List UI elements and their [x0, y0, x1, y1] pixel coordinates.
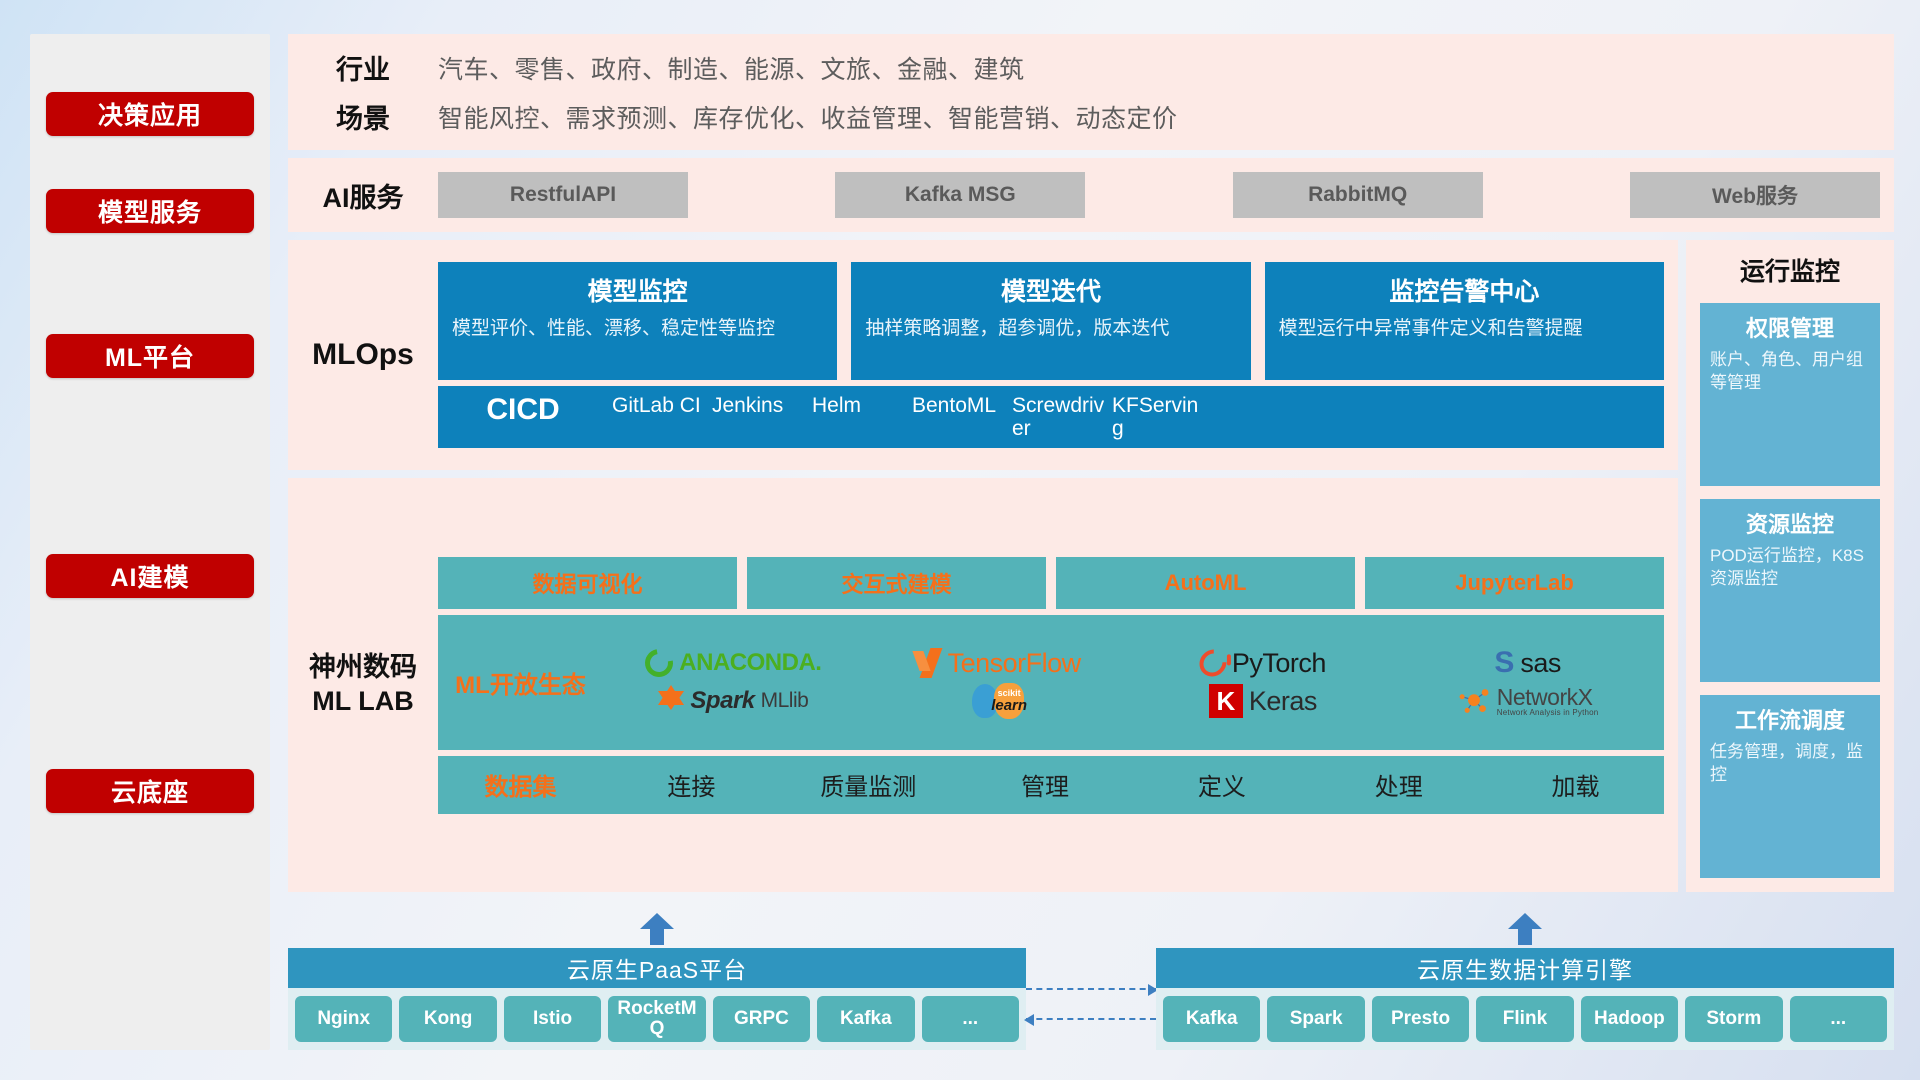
engine-chip-hadoop[interactable]: Hadoop — [1581, 996, 1678, 1042]
dataset-item-load[interactable]: 加载 — [1487, 767, 1664, 802]
rail-item-label: 模型服务 — [98, 193, 202, 229]
mlops-card-desc: 模型评价、性能、漂移、稳定性等监控 — [452, 316, 823, 342]
mlops-card-model-monitoring[interactable]: 模型监控 模型评价、性能、漂移、稳定性等监控 — [438, 262, 837, 380]
tab-interactive-modeling[interactable]: 交互式建模 — [747, 557, 1046, 609]
arrow-up-icon — [640, 913, 674, 945]
data-engine-title: 云原生数据计算引擎 — [1156, 948, 1894, 988]
interconnect-arrows — [1026, 988, 1156, 1050]
mllib-label: MLlib — [761, 689, 809, 713]
engine-chip-presto[interactable]: Presto — [1372, 996, 1469, 1042]
ai-service-items: RestfulAPI Kafka MSG RabbitMQ Web服务 — [438, 172, 1894, 218]
paas-chip-rocketmq[interactable]: RocketMQ — [608, 996, 705, 1042]
paas-chip-istio[interactable]: Istio — [504, 996, 601, 1042]
spark-mllib-logo: Spark MLlib — [658, 687, 808, 715]
scenario-row: 场景 智能风控、需求预测、库存优化、收益管理、智能营销、动态定价 — [288, 97, 1894, 136]
mlops-card-title: 监控告警中心 — [1279, 272, 1650, 308]
tab-data-visualization[interactable]: 数据可视化 — [438, 557, 737, 609]
tensorflow-logo: TensorFlow — [916, 648, 1081, 679]
engine-chip-flink[interactable]: Flink — [1476, 996, 1573, 1042]
ml-ecosystem-logos: ANACONDA. TensorFlow PyTorch — [603, 645, 1658, 719]
dataset-item-process[interactable]: 处理 — [1310, 767, 1487, 802]
sas-logo: S sas — [1494, 646, 1561, 680]
mlops-card-desc: 模型运行中异常事件定义和告警提醒 — [1279, 316, 1650, 342]
rail-item-label: 云底座 — [111, 773, 189, 809]
ai-service-chip-restfulapi[interactable]: RestfulAPI — [438, 172, 688, 218]
tab-jupyterlab[interactable]: JupyterLab — [1365, 557, 1664, 609]
monitor-card-desc: 账户、角色、用户组等管理 — [1710, 349, 1870, 395]
cicd-row: CICD GitLab CI Jenkins Helm BentoML Scre… — [438, 386, 1664, 448]
cicd-title: CICD — [438, 394, 608, 426]
ml-lab-key-line1: 神州数码 — [288, 651, 438, 685]
keras-k-icon: K — [1209, 684, 1243, 718]
pytorch-label: PyTorch — [1232, 648, 1326, 679]
engine-chip-spark[interactable]: Spark — [1267, 996, 1364, 1042]
monitor-card-title: 工作流调度 — [1710, 703, 1870, 735]
ml-ecosystem-key: ML开放生态 — [438, 665, 603, 700]
runtime-monitor-panel: 运行监控 权限管理 账户、角色、用户组等管理 资源监控 POD运行监控，K8S资… — [1686, 240, 1894, 892]
networkx-graph-icon — [1457, 686, 1491, 716]
dataset-item-define[interactable]: 定义 — [1133, 767, 1310, 802]
mlops-band: MLOps 模型监控 模型评价、性能、漂移、稳定性等监控 模型迭代 抽样策略调整… — [288, 240, 1678, 470]
networkx-logo: NetworkX Network Analysis in Python — [1457, 686, 1599, 717]
anaconda-ring-icon — [640, 644, 679, 683]
scenario-key: 场景 — [288, 97, 438, 136]
ai-service-band: AI服务 RestfulAPI Kafka MSG RabbitMQ Web服务 — [288, 158, 1894, 232]
rail-item-label: 决策应用 — [98, 96, 202, 132]
runtime-monitor-title: 运行监控 — [1700, 252, 1880, 288]
sas-label: sas — [1520, 648, 1561, 679]
monitor-card-workflow[interactable]: 工作流调度 任务管理，调度，监控 — [1700, 695, 1880, 878]
ml-lab-band: 神州数码 ML LAB 数据可视化 交互式建模 AutoML JupyterLa… — [288, 478, 1678, 892]
paas-chip-nginx[interactable]: Nginx — [295, 996, 392, 1042]
dataset-row: 数据集 连接 质量监测 管理 定义 处理 加载 — [438, 756, 1664, 814]
rail-item-label: ML平台 — [105, 338, 195, 374]
industry-key: 行业 — [288, 48, 438, 87]
scenario-values: 智能风控、需求预测、库存优化、收益管理、智能营销、动态定价 — [438, 99, 1178, 135]
keras-logo: K Keras — [1209, 684, 1317, 718]
engine-chip-more[interactable]: ... — [1790, 996, 1887, 1042]
rail-item-ml-platform[interactable]: ML平台 — [46, 334, 254, 378]
arrow-up-icon — [1508, 913, 1542, 945]
mlops-card-desc: 抽样策略调整，超参调优，版本迭代 — [865, 316, 1236, 342]
dataset-key: 数据集 — [438, 767, 603, 802]
cicd-item-kfserving[interactable]: KFServing — [1108, 394, 1208, 440]
tensorflow-mark-icon — [916, 648, 942, 678]
layer-rail: 决策应用 模型服务 ML平台 AI建模 云底座 — [30, 34, 270, 1050]
cloud-base-band: 云原生PaaS平台 Nginx Kong Istio RocketMQ GRPC… — [288, 900, 1894, 1050]
cicd-item-jenkins[interactable]: Jenkins — [708, 394, 808, 440]
diagram-main: 行业 汽车、零售、政府、制造、能源、文旅、金融、建筑 场景 智能风控、需求预测、… — [288, 34, 1894, 1050]
sas-swirl-icon: S — [1494, 646, 1514, 680]
mlops-cards: 模型监控 模型评价、性能、漂移、稳定性等监控 模型迭代 抽样策略调整，超参调优，… — [438, 262, 1664, 380]
monitor-card-title: 资源监控 — [1710, 507, 1870, 539]
cicd-item-helm[interactable]: Helm — [808, 394, 908, 440]
rail-item-cloud-base[interactable]: 云底座 — [46, 769, 254, 813]
pytorch-flame-icon — [1194, 644, 1232, 682]
dataset-items: 连接 质量监测 管理 定义 处理 加载 — [603, 767, 1664, 802]
monitor-card-title: 权限管理 — [1710, 311, 1870, 343]
ai-service-chip-rabbitmq[interactable]: RabbitMQ — [1233, 172, 1483, 218]
paas-chips: Nginx Kong Istio RocketMQ GRPC Kafka ... — [288, 988, 1026, 1050]
engine-chip-kafka[interactable]: Kafka — [1163, 996, 1260, 1042]
dataset-item-manage[interactable]: 管理 — [957, 767, 1134, 802]
paas-chip-grpc[interactable]: GRPC — [713, 996, 810, 1042]
ai-service-chip-web[interactable]: Web服务 — [1630, 172, 1880, 218]
pytorch-logo: PyTorch — [1200, 648, 1326, 679]
mlops-card-model-iteration[interactable]: 模型迭代 抽样策略调整，超参调优，版本迭代 — [851, 262, 1250, 380]
ml-lab-key-line2: ML LAB — [288, 685, 438, 719]
monitor-card-desc: 任务管理，调度，监控 — [1710, 741, 1870, 787]
mlops-card-alert-center[interactable]: 监控告警中心 模型运行中异常事件定义和告警提醒 — [1265, 262, 1664, 380]
ai-service-key: AI服务 — [288, 176, 438, 215]
paas-chip-kong[interactable]: Kong — [399, 996, 496, 1042]
mlops-key: MLOps — [288, 338, 438, 372]
mlops-body: 模型监控 模型评价、性能、漂移、稳定性等监控 模型迭代 抽样策略调整，超参调优，… — [438, 262, 1664, 448]
ml-lab-body: 数据可视化 交互式建模 AutoML JupyterLab ML开放生态 ANA… — [438, 557, 1664, 814]
rail-item-ai-modeling[interactable]: AI建模 — [46, 554, 254, 598]
cicd-item-gitlab-ci[interactable]: GitLab CI — [608, 394, 708, 440]
networkx-tagline: Network Analysis in Python — [1497, 709, 1599, 717]
scikit-orange-blob-icon: scikit learn — [994, 683, 1024, 719]
ml-ecosystem-row: ML开放生态 ANACONDA. TensorFlow — [438, 615, 1664, 750]
monitor-card-desc: POD运行监控，K8S资源监控 — [1710, 545, 1870, 591]
cicd-item-screwdriver[interactable]: Screwdriver — [1008, 394, 1108, 440]
rail-item-model-service[interactable]: 模型服务 — [46, 189, 254, 233]
ai-service-chip-kafka-msg[interactable]: Kafka MSG — [835, 172, 1085, 218]
keras-label: Keras — [1249, 686, 1317, 717]
ml-lab-key: 神州数码 ML LAB — [288, 651, 438, 719]
cicd-items: GitLab CI Jenkins Helm BentoML Screwdriv… — [608, 394, 1664, 440]
mlops-card-title: 模型迭代 — [865, 272, 1236, 308]
monitor-card-resource[interactable]: 资源监控 POD运行监控，K8S资源监控 — [1700, 499, 1880, 682]
scikit-learn-logo: scikit learn — [972, 683, 1024, 719]
diagram-root: 决策应用 模型服务 ML平台 AI建模 云底座 行业 汽车、零售、政府、制造、能… — [0, 0, 1920, 1080]
scikit-learn-label: learn — [991, 698, 1027, 713]
industry-row: 行业 汽车、零售、政府、制造、能源、文旅、金融、建筑 — [288, 48, 1894, 87]
paas-column: 云原生PaaS平台 Nginx Kong Istio RocketMQ GRPC… — [288, 913, 1026, 1050]
paas-chip-kafka[interactable]: Kafka — [817, 996, 914, 1042]
dataset-item-connect[interactable]: 连接 — [603, 767, 780, 802]
paas-chip-more[interactable]: ... — [922, 996, 1019, 1042]
platform-region: MLOps 模型监控 模型评价、性能、漂移、稳定性等监控 模型迭代 抽样策略调整… — [288, 240, 1894, 892]
paas-title: 云原生PaaS平台 — [288, 948, 1026, 988]
arrow-left-icon — [1026, 1018, 1156, 1020]
spark-star-icon — [658, 685, 684, 705]
data-engine-chips: Kafka Spark Presto Flink Hadoop Storm ..… — [1156, 988, 1894, 1050]
rail-item-decision-app[interactable]: 决策应用 — [46, 92, 254, 136]
industry-values: 汽车、零售、政府、制造、能源、文旅、金融、建筑 — [438, 50, 1025, 86]
dataset-item-quality-monitor[interactable]: 质量监测 — [780, 767, 957, 802]
monitor-card-permission[interactable]: 权限管理 账户、角色、用户组等管理 — [1700, 303, 1880, 486]
mlops-card-title: 模型监控 — [452, 272, 823, 308]
data-engine-column: 云原生数据计算引擎 Kafka Spark Presto Flink Hadoo… — [1156, 913, 1894, 1050]
ml-lab-tabs: 数据可视化 交互式建模 AutoML JupyterLab — [438, 557, 1664, 609]
cicd-item-bentoml[interactable]: BentoML — [908, 394, 1008, 440]
business-band: 行业 汽车、零售、政府、制造、能源、文旅、金融、建筑 场景 智能风控、需求预测、… — [288, 34, 1894, 150]
engine-chip-storm[interactable]: Storm — [1685, 996, 1782, 1042]
spark-label: Spark — [690, 687, 754, 715]
anaconda-label: ANACONDA. — [679, 649, 821, 677]
networkx-label: NetworkX — [1497, 686, 1599, 709]
arrow-right-icon — [1026, 988, 1156, 990]
rail-item-label: AI建模 — [110, 558, 189, 594]
tab-automl[interactable]: AutoML — [1056, 557, 1355, 609]
platform-left: MLOps 模型监控 模型评价、性能、漂移、稳定性等监控 模型迭代 抽样策略调整… — [288, 240, 1678, 892]
tensorflow-label: TensorFlow — [948, 648, 1081, 679]
anaconda-logo: ANACONDA. — [645, 649, 821, 677]
